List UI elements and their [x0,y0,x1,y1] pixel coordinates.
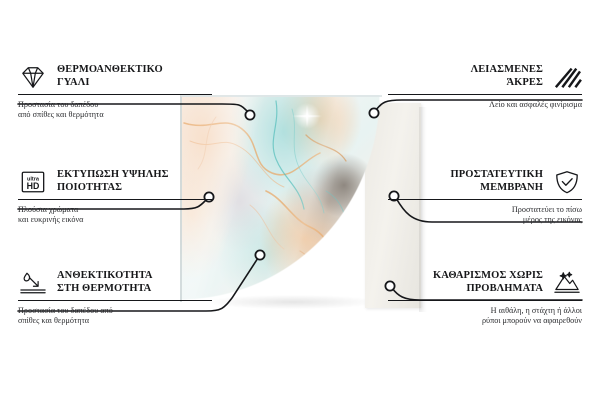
divider [18,199,212,200]
feature-body-line2: από σπίθες και θερμότητα [18,110,212,120]
feature-body-line1: Προστατεύει το πίσω [388,205,582,215]
feature-body-line1: Προστασία του δαπέδου από [18,306,212,316]
feature-title: ΘΕΡΜΟΑΝΘΕΚΤΙΚΟ ΓΥΑΛΙ [57,64,163,89]
feature-heading: ΘΕΡΜΟΑΝΘΕΚΤΙΚΟ ΓΥΑΛΙ [18,64,212,90]
shield-check-icon [552,169,582,195]
sparkle-icon [292,101,322,131]
feature-heading: ΛΕΙΑΣΜΕΝΕΣ ΆΚΡΕΣ [388,64,582,90]
feature-heading: ΑΝΘΕΚΤΙΚΟΤΗΤΑ ΣΤΗ ΘΕΡΜΟΤΗΤΑ [18,270,212,296]
feature-heat-durability: ΑΝΘΕΚΤΙΚΟΤΗΤΑ ΣΤΗ ΘΕΡΜΟΤΗΤΑ Προστασία το… [18,270,212,327]
feature-title: ΚΑΘΑΡΙΣΜΟΣ ΧΩΡΙΣ ΠΡΟΒΛΗΜΑΤΑ [433,270,543,295]
infographic-canvas: ΘΕΡΜΟΑΝΘΕΚΤΙΚΟ ΓΥΑΛΙ Προστασία του δαπέδ… [0,0,600,400]
diamond-icon [18,64,48,90]
feature-heading: ΠΡΟΣΤΑΤΕΥΤΙΚΗ ΜΕΜΒΡΑΝΗ [388,169,582,195]
diagonal-stripes-icon [552,64,582,90]
heat-deflect-icon [18,270,48,296]
feature-body-line1: Πλούσια χρώματα [18,205,212,215]
feature-body-line2: μέρος της εικόνας [388,215,582,225]
feature-title: ΛΕΙΑΣΜΕΝΕΣ ΆΚΡΕΣ [471,64,543,89]
product-mockup [180,85,420,325]
feature-body-line2: και ευκρινής εικόνα [18,215,212,225]
feature-title: ΑΝΘΕΚΤΙΚΟΤΗΤΑ ΣΤΗ ΘΕΡΜΟΤΗΤΑ [57,270,153,295]
feature-heat-resistant-glass: ΘΕΡΜΟΑΝΘΕΚΤΙΚΟ ΓΥΑΛΙ Προστασία του δαπέδ… [18,64,212,121]
feature-title: ΕΚΤΥΠΩΣΗ ΥΨΗΛΗΣ ΠΟΙΟΤΗΤΑΣ [57,169,169,194]
divider [18,300,212,301]
feature-body-line2: ρύποι μπορούν να αφαιρεθούν [388,316,582,326]
feature-heading: ΚΑΘΑΡΙΣΜΟΣ ΧΩΡΙΣ ΠΡΟΒΛΗΜΑΤΑ [388,270,582,296]
feature-smooth-edges: ΛΕΙΑΣΜΕΝΕΣ ΆΚΡΕΣ Λείο και ασφαλές φινίρι… [388,64,582,110]
feature-title: ΠΡΟΣΤΑΤΕΥΤΙΚΗ ΜΕΜΒΡΑΝΗ [451,169,543,194]
divider [18,94,212,95]
feature-body-line1: Λείο και ασφαλές φινίρισμα [388,100,582,110]
easy-clean-icon [552,270,582,296]
svg-text:HD: HD [27,181,40,191]
feature-body-line1: Προστασία του δαπέδου [18,100,212,110]
feature-high-quality-print: ultra HD ΕΚΤΥΠΩΣΗ ΥΨΗΛΗΣ ΠΟΙΟΤΗΤΑΣ Πλούσ… [18,169,212,226]
divider [388,300,582,301]
feature-body-line1: Η αιθάλη, η στάχτη ή άλλοι [388,306,582,316]
feature-easy-cleaning: ΚΑΘΑΡΙΣΜΟΣ ΧΩΡΙΣ ΠΡΟΒΛΗΜΑΤΑ Η αιθάλη, η … [388,270,582,327]
feature-protective-membrane: ΠΡΟΣΤΑΤΕΥΤΙΚΗ ΜΕΜΒΡΑΝΗ Προστατεύει το πί… [388,169,582,226]
divider [388,94,582,95]
divider [388,199,582,200]
feature-heading: ultra HD ΕΚΤΥΠΩΣΗ ΥΨΗΛΗΣ ΠΟΙΟΤΗΤΑΣ [18,169,212,195]
feature-body-line2: σπίθες και θερμότητα [18,316,212,326]
ultra-hd-icon: ultra HD [18,169,48,195]
